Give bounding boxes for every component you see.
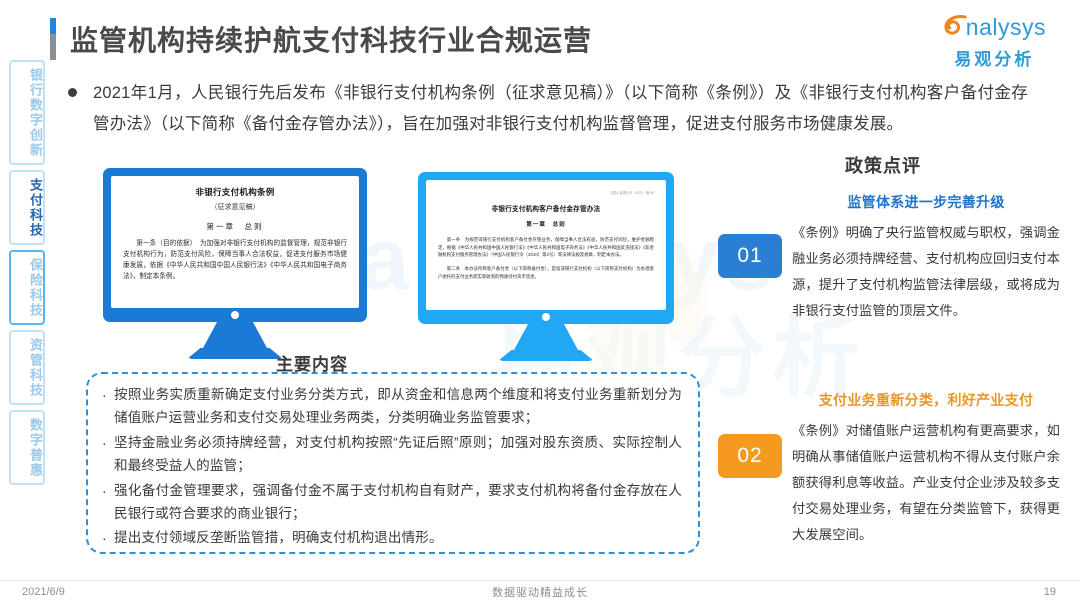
commentary-heading: 监管体系进一步完善升级 bbox=[792, 192, 1060, 212]
footer-date: 2021/6/9 bbox=[22, 586, 65, 598]
list-item-text: 按照业务实质重新确定支付业务分类方式，即从资金和信息两个维度和将支付业务重新划分… bbox=[114, 383, 682, 430]
monitor-bezel: 非银行支付机构条例 （征求意见稿） 第一章 总则 第一条（目的依据） 为加强对非… bbox=[103, 168, 367, 322]
doc-title: 非银行支付机构客户备付金存管办法 bbox=[438, 203, 654, 213]
monitor-indicator-icon bbox=[542, 313, 550, 321]
monitor-bezel: 中国人民银行令〔2021〕第1号 非银行支付机构客户备付金存管办法 第一章 总则… bbox=[418, 172, 674, 324]
lead-paragraph: 2021年1月，人民银行先后发布《非银行支付机构条例（征求意见稿）》（以下简称《… bbox=[68, 78, 1028, 139]
lead-paragraph-text: 2021年1月，人民银行先后发布《非银行支付机构条例（征求意见稿）》（以下简称《… bbox=[93, 78, 1028, 139]
monitor-base bbox=[498, 350, 594, 361]
list-item-text: 坚持金融业务必须持牌经营，对支付机构按照“先证后照”原则；加强对股东资质、实际控… bbox=[114, 431, 682, 478]
footer-page-number: 19 bbox=[1044, 586, 1056, 598]
commentary-body: 《条例》明确了央行监管权威与职权，强调金融业务必须持牌经营、支付机构应回归支付本… bbox=[792, 220, 1060, 324]
doc-paragraph: 第一条 为规范非银行支付机构客户备付金存管业务，保障当事人合法权益，防范支付风险… bbox=[438, 236, 654, 259]
list-item: · 强化备付金管理要求，强调备付金不属于支付机构自有财产，要求支付机构将备付金存… bbox=[102, 479, 682, 526]
sidebar-item-digital-inclusive[interactable]: 数字普惠 bbox=[9, 410, 45, 485]
slide-canvas: analysys 易观分析 监管机构持续护航支付科技行业合规运营 nalysys… bbox=[0, 0, 1080, 608]
bullet-dot-icon: · bbox=[102, 526, 114, 550]
main-content-box: · 按照业务实质重新确定支付业务分类方式，即从资金和信息两个维度和将支付业务重新… bbox=[86, 372, 700, 554]
doc-paragraph-2: 第二条 本办法所称客户备付金（以下简称备付金），是指非银行支付机构（以下简称支付… bbox=[438, 265, 654, 280]
footer: 2021/6/9 数据驱动精益成长 19 bbox=[0, 582, 1080, 602]
monitor-indicator-icon bbox=[231, 311, 239, 319]
doc-header-note: 中国人民银行令〔2021〕第1号 bbox=[438, 190, 654, 195]
monitor-neck bbox=[203, 322, 267, 348]
list-item: · 按照业务实质重新确定支付业务分类方式，即从资金和信息两个维度和将支付业务重新… bbox=[102, 383, 682, 430]
brand-logo: nalysys 易观分析 bbox=[943, 12, 1046, 70]
title-accent-bar bbox=[50, 18, 56, 60]
sidebar-item-insurance-tech[interactable]: 保险科技 bbox=[9, 250, 45, 325]
sidebar-item-asset-tech[interactable]: 资管科技 bbox=[9, 330, 45, 405]
list-item: · 坚持金融业务必须持牌经营，对支付机构按照“先证后照”原则；加强对股东资质、实… bbox=[102, 431, 682, 478]
list-item: · 提出支付领域反垄断监管措，明确支付机构退出情形。 bbox=[102, 526, 682, 550]
monitor-base bbox=[187, 348, 283, 359]
bullet-dot-icon bbox=[68, 88, 77, 97]
bullet-dot-icon: · bbox=[102, 431, 114, 478]
monitor-regulation: 非银行支付机构条例 （征求意见稿） 第一章 总则 第一条（目的依据） 为加强对非… bbox=[103, 168, 367, 359]
monitor-custody: 中国人民银行令〔2021〕第1号 非银行支付机构客户备付金存管办法 第一章 总则… bbox=[418, 172, 674, 361]
bullet-dot-icon: · bbox=[102, 383, 114, 430]
commentary-heading: 支付业务重新分类，利好产业支付 bbox=[792, 390, 1060, 410]
sidebar-item-payment-tech[interactable]: 支付科技 bbox=[9, 170, 45, 245]
commentary-body: 《条例》对储值账户运营机构有更高要求，如明确从事储值账户运营机构不得从支付账户余… bbox=[792, 418, 1060, 548]
commentary-block-1: 监管体系进一步完善升级 《条例》明确了央行监管权威与职权，强调金融业务必须持牌经… bbox=[792, 192, 1060, 324]
footer-divider bbox=[0, 580, 1080, 581]
doc-chapter: 第一章 总则 bbox=[123, 221, 347, 232]
list-item-text: 强化备付金管理要求，强调备付金不属于支付机构自有财产，要求支付机构将备付金存放在… bbox=[114, 479, 682, 526]
bullet-dot-icon: · bbox=[102, 479, 114, 526]
step-badge-02: 02 bbox=[718, 434, 782, 478]
logo-wordmark-cn: 易观分析 bbox=[943, 45, 1046, 70]
monitor-screen: 非银行支付机构条例 （征求意见稿） 第一章 总则 第一条（目的依据） 为加强对非… bbox=[111, 176, 359, 308]
monitor-screen: 中国人民银行令〔2021〕第1号 非银行支付机构客户备付金存管办法 第一章 总则… bbox=[426, 180, 666, 310]
footer-slogan: 数据驱动精益成长 bbox=[492, 584, 588, 600]
doc-paragraph: 第一条（目的依据） 为加强对非银行支付机构的监督管理，规范非银行支付机构行为，防… bbox=[123, 239, 347, 283]
sidebar-item-bank-digital[interactable]: 银行数字创新 bbox=[9, 60, 45, 165]
logo-wordmark: nalysys bbox=[966, 14, 1046, 41]
monitor-neck bbox=[514, 324, 578, 350]
section-tabs: 银行数字创新 支付科技 保险科技 资管科技 数字普惠 bbox=[8, 60, 46, 485]
page-title: 监管机构持续护航支付科技行业合规运营 bbox=[70, 19, 592, 59]
step-badge-01: 01 bbox=[718, 234, 782, 278]
list-item-text: 提出支付领域反垄断监管措，明确支付机构退出情形。 bbox=[114, 526, 443, 550]
doc-title: 非银行支付机构条例 bbox=[123, 186, 347, 198]
page-title-bar: 监管机构持续护航支付科技行业合规运营 bbox=[50, 16, 592, 62]
commentary-block-2: 支付业务重新分类，利好产业支付 《条例》对储值账户运营机构有更高要求，如明确从事… bbox=[792, 390, 1060, 548]
commentary-title: 政策点评 bbox=[845, 152, 921, 178]
doc-chapter: 第一章 总则 bbox=[438, 220, 654, 228]
doc-subtitle: （征求意见稿） bbox=[123, 202, 347, 212]
